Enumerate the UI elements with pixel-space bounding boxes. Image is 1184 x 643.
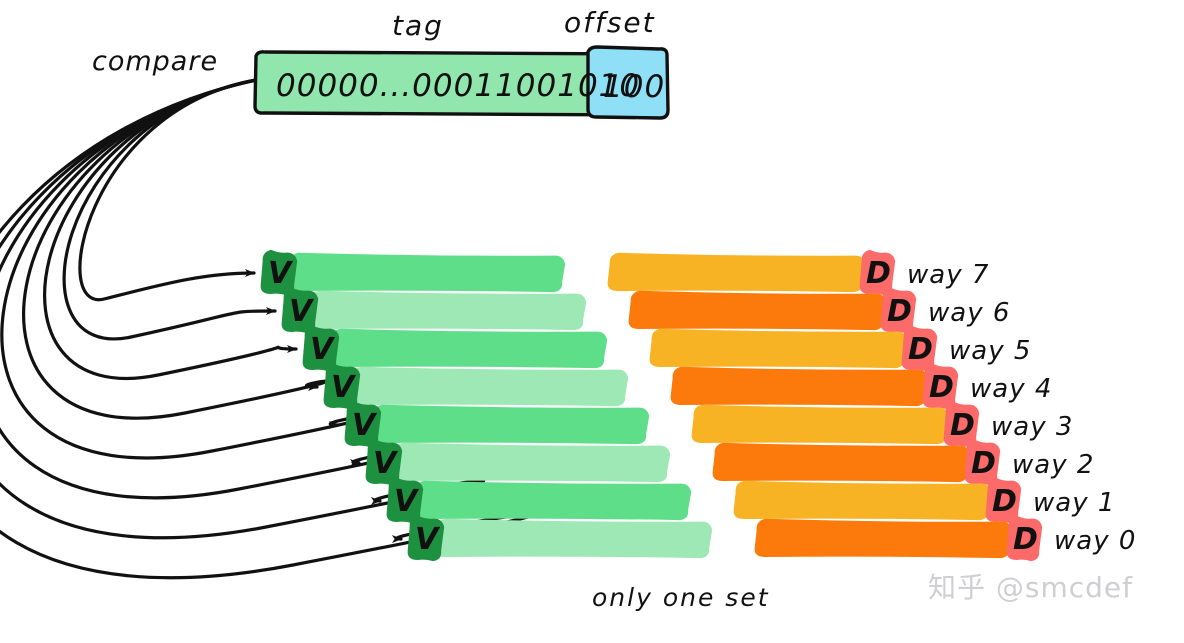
way-row[interactable]: VD [387, 478, 1022, 523]
offset-value: 100 [603, 69, 665, 105]
tag-array-bar[interactable] [414, 481, 692, 520]
valid-bit-label: V [352, 408, 378, 443]
way-row[interactable]: VD [324, 364, 959, 409]
compare-label: compare [92, 46, 218, 77]
cache-way-diagram: VDVDVDVDVDVDVDVD 00000...00011001010 100… [0, 0, 1184, 643]
way-label: way 0 [1054, 526, 1136, 556]
valid-bit-label: V [415, 522, 441, 557]
tag-array-bar[interactable] [288, 253, 566, 292]
data-array-bar[interactable] [650, 329, 908, 368]
way-label: way 7 [907, 260, 989, 290]
way-label: way 1 [1033, 488, 1115, 518]
dirty-bit-label: D [992, 484, 1017, 519]
valid-bit-label: V [373, 446, 399, 481]
way-row[interactable]: VD [408, 516, 1043, 561]
tag-value: 00000...00011001010 [276, 68, 640, 104]
way-label: way 6 [928, 298, 1010, 328]
data-array-bar[interactable] [608, 253, 866, 292]
dirty-bit-label: D [950, 408, 975, 443]
way-label: way 5 [949, 336, 1031, 366]
data-array-bar[interactable] [755, 519, 1013, 558]
dirty-bit-label: D [866, 256, 891, 291]
way-row[interactable]: VD [261, 250, 896, 295]
data-array-bar[interactable] [734, 481, 992, 520]
only-one-set-note: only one set [592, 583, 770, 612]
data-array-bar[interactable] [629, 291, 887, 330]
way-rows-group: VDVDVDVDVDVDVDVD [261, 250, 1043, 561]
tag-array-bar[interactable] [330, 329, 608, 368]
dirty-bit-label: D [971, 446, 996, 481]
compare-arrow [45, 80, 296, 378]
diagram-canvas: VDVDVDVDVDVDVDVD 00000...00011001010 100… [0, 0, 1184, 643]
way-row[interactable]: VD [366, 440, 1001, 485]
valid-bit-label: V [289, 294, 315, 329]
dirty-bit-label: D [929, 370, 954, 405]
way-label: way 4 [970, 374, 1052, 404]
dirty-bit-label: D [887, 294, 912, 329]
way-row[interactable]: VD [345, 402, 980, 447]
tag-field-label: tag [392, 9, 444, 42]
offset-field-label: offset [564, 6, 656, 39]
dirty-bit-label: D [908, 332, 933, 367]
way-label: way 3 [991, 412, 1073, 442]
tag-array-bar[interactable] [393, 443, 671, 482]
valid-bit-label: V [331, 370, 357, 405]
address-field-group: 00000...00011001010 100 tag offset compa… [92, 6, 668, 118]
way-row[interactable]: VD [303, 326, 938, 371]
tag-array-bar[interactable] [351, 367, 629, 406]
tag-array-bar[interactable] [372, 405, 650, 444]
dirty-bit-label: D [1013, 522, 1038, 557]
data-array-bar[interactable] [713, 443, 971, 482]
valid-bit-label: V [394, 484, 420, 519]
tag-array-bar[interactable] [309, 291, 587, 330]
way-label: way 2 [1012, 450, 1094, 480]
watermark: 知乎 @smcdef [928, 571, 1133, 604]
tag-array-bar[interactable] [435, 519, 713, 558]
valid-bit-label: V [268, 256, 294, 291]
valid-bit-label: V [310, 332, 336, 367]
data-array-bar[interactable] [692, 405, 950, 444]
data-array-bar[interactable] [671, 367, 929, 406]
way-row[interactable]: VD [282, 288, 917, 333]
